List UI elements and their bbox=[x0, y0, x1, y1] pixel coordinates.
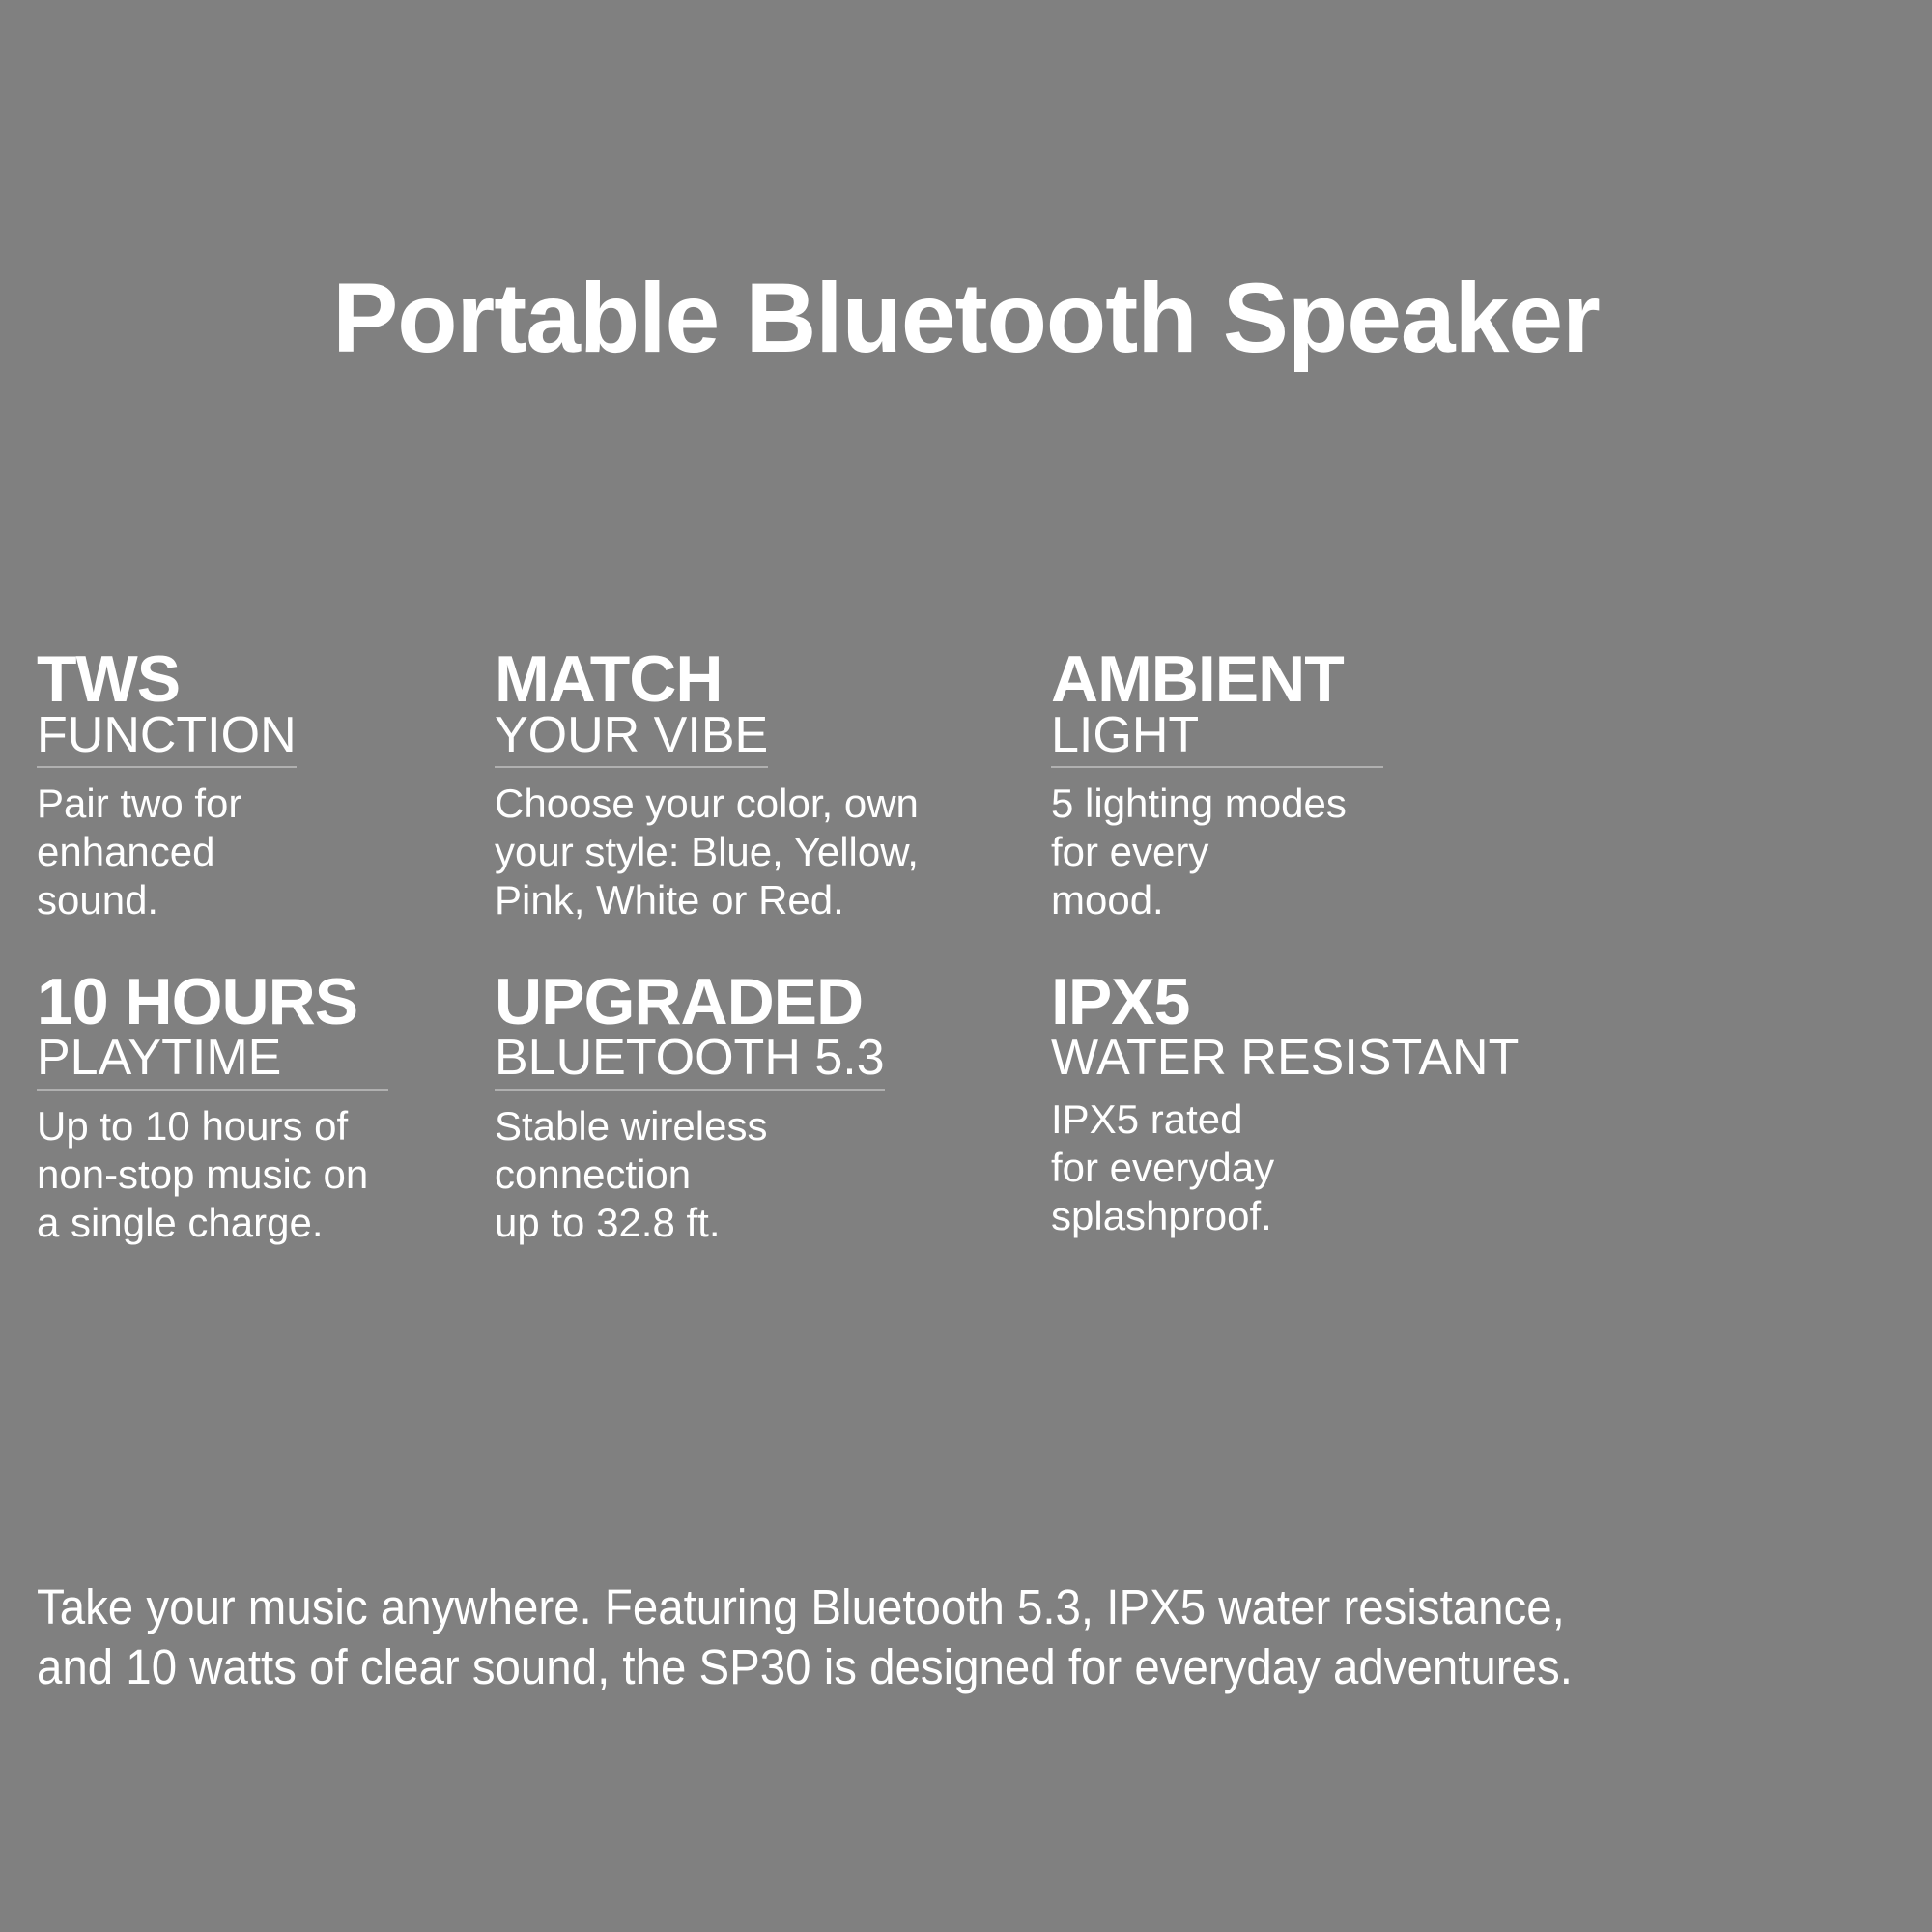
footer-description: Take your music anywhere. Featuring Blue… bbox=[37, 1577, 1779, 1697]
feature-row: TWS FUNCTION Pair two for enhanced sound… bbox=[0, 649, 1932, 972]
feature-card-match: MATCH YOUR VIBE Choose your color, own y… bbox=[495, 649, 1065, 925]
feature-card-ambient: AMBIENT LIGHT 5 lighting modes for every… bbox=[1051, 649, 1932, 925]
page-title: Portable Bluetooth Speaker bbox=[0, 269, 1932, 367]
feature-body: 5 lighting modes for every mood. bbox=[1051, 780, 1932, 925]
feature-headline: UPGRADED bbox=[495, 972, 1065, 1033]
feature-card-tws: TWS FUNCTION Pair two for enhanced sound… bbox=[37, 649, 491, 925]
feature-body: Choose your color, own your style: Blue,… bbox=[495, 780, 1065, 925]
feature-row: 10 HOURS PLAYTIME Up to 10 hours of non-… bbox=[0, 972, 1932, 1294]
feature-headline: TWS bbox=[37, 649, 491, 710]
feature-card-bluetooth: UPGRADED BLUETOOTH 5.3 Stable wireless c… bbox=[495, 972, 1065, 1248]
feature-subhead: LIGHT bbox=[1051, 710, 1383, 768]
feature-subhead: PLAYTIME bbox=[37, 1033, 388, 1091]
feature-subhead: BLUETOOTH 5.3 bbox=[495, 1033, 885, 1091]
poster-canvas: Portable Bluetooth Speaker TWS FUNCTION … bbox=[0, 0, 1932, 1932]
feature-subhead: YOUR VIBE bbox=[495, 710, 768, 768]
feature-headline: IPX5 bbox=[1051, 972, 1932, 1033]
feature-body: IPX5 rated for everyday splashproof. bbox=[1051, 1095, 1932, 1241]
feature-card-playtime: 10 HOURS PLAYTIME Up to 10 hours of non-… bbox=[37, 972, 491, 1248]
feature-body: Up to 10 hours of non-stop music on a si… bbox=[37, 1102, 491, 1248]
feature-card-ipx5: IPX5 WATER RESISTANT IPX5 rated for ever… bbox=[1051, 972, 1932, 1241]
feature-headline: MATCH bbox=[495, 649, 1065, 710]
feature-headline: AMBIENT bbox=[1051, 649, 1932, 710]
feature-grid: TWS FUNCTION Pair two for enhanced sound… bbox=[0, 649, 1932, 1294]
feature-subhead: WATER RESISTANT bbox=[1051, 1033, 1519, 1084]
feature-headline: 10 HOURS bbox=[37, 972, 491, 1033]
feature-body: Stable wireless connection up to 32.8 ft… bbox=[495, 1102, 1065, 1248]
feature-body: Pair two for enhanced sound. bbox=[37, 780, 491, 925]
feature-subhead: FUNCTION bbox=[37, 710, 297, 768]
